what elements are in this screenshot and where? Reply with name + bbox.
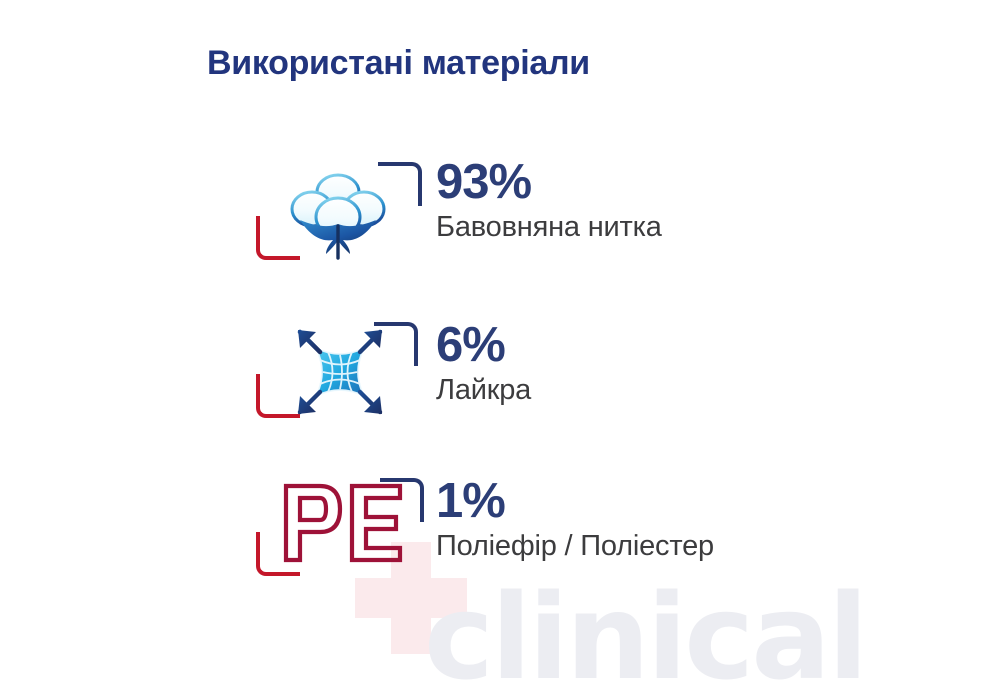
cotton-percent: 93%: [436, 159, 662, 206]
cotton-boll-icon: [288, 162, 388, 262]
cotton-label: Бавовняна нитка: [436, 212, 662, 244]
material-row-lycra: 6% Лайкра: [250, 312, 950, 442]
lycra-percent: 6%: [436, 322, 531, 369]
pe-wordmark-icon: [276, 478, 406, 568]
polyester-percent: 1%: [436, 478, 714, 525]
material-row-polyester: 1% Поліефір / Поліестер: [250, 470, 950, 600]
material-row-cotton: 93% Бавовняна нитка: [250, 150, 950, 280]
page-title: Використані матеріали: [207, 44, 590, 83]
polyester-text-block: 1% Поліефір / Поліестер: [436, 478, 714, 562]
stretch-elastane-icon: [290, 322, 390, 422]
materials-infographic: clinical Використані матеріали: [0, 0, 1000, 685]
cotton-text-block: 93% Бавовняна нитка: [436, 159, 662, 243]
lycra-label: Лайкра: [436, 375, 531, 407]
polyester-label: Поліефір / Поліестер: [436, 531, 714, 563]
lycra-text-block: 6% Лайкра: [436, 322, 531, 406]
